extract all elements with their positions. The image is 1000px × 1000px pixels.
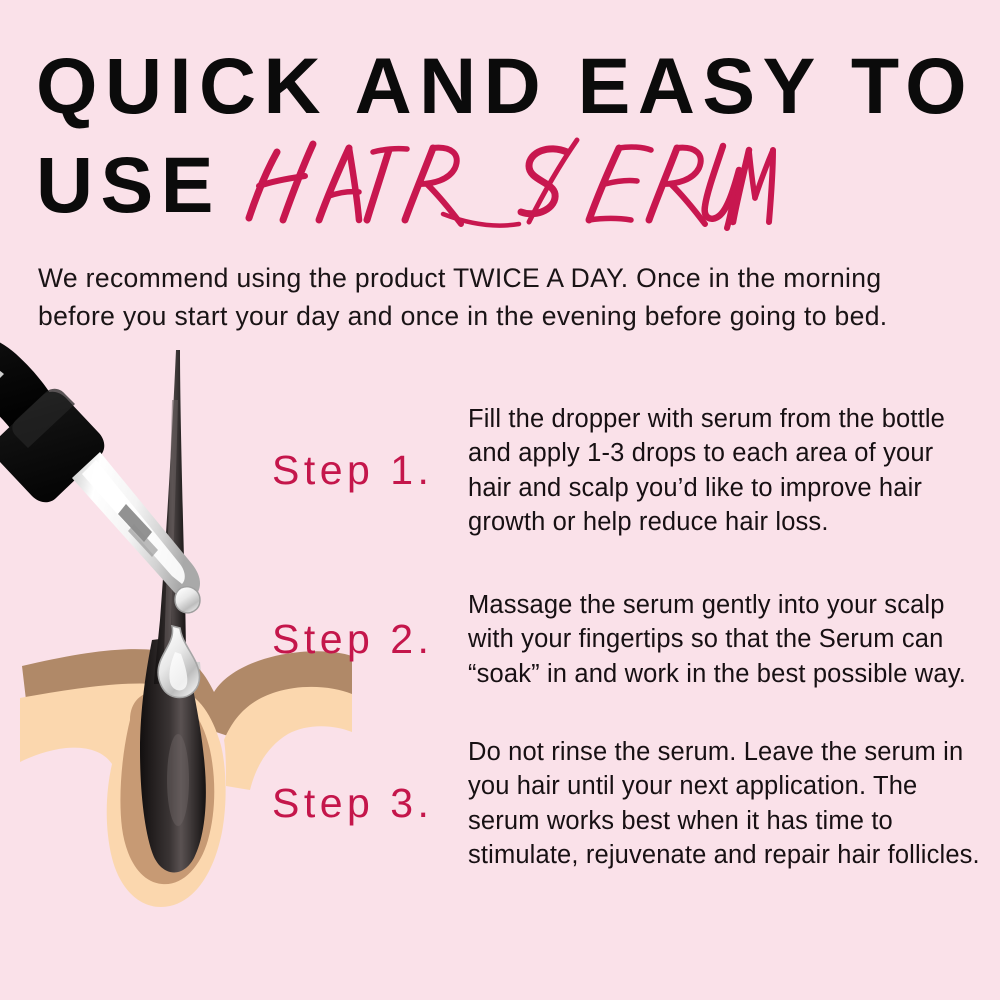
headline-line-2: USE [36, 128, 966, 224]
headline-use-word: USE [36, 145, 221, 224]
headline-script-hair-serum [237, 136, 757, 228]
step-3-label: Step 3. [272, 780, 468, 827]
step-2-label: Step 2. [272, 616, 468, 663]
step-1-label: Step 1. [272, 447, 468, 494]
step-row-3: Step 3. Do not rinse the serum. Leave th… [272, 735, 992, 872]
step-row-1: Step 1. Fill the dropper with serum from… [272, 402, 992, 539]
step-3-text: Do not rinse the serum. Leave the serum … [468, 735, 980, 872]
subtitle-text: We recommend using the product TWICE A D… [38, 259, 962, 335]
step-1-text: Fill the dropper with serum from the bot… [468, 402, 980, 539]
headline-line-1: QUICK AND EASY TO [36, 48, 966, 124]
poster-canvas: QUICK AND EASY TO USE [0, 0, 1000, 1000]
step-2-text: Massage the serum gently into your scalp… [468, 588, 980, 691]
headline: QUICK AND EASY TO USE [36, 48, 966, 224]
serum-dropper-pipette-icon [0, 352, 306, 712]
step-row-2: Step 2. Massage the serum gently into yo… [272, 588, 992, 691]
